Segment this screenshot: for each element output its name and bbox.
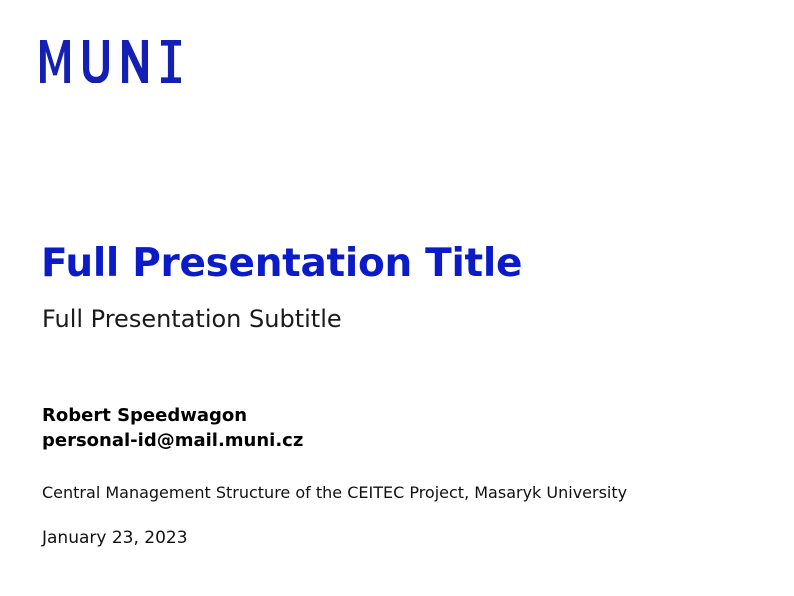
presentation-title-slide: Full Presentation Title Full Presentatio… [0, 0, 794, 596]
author-name: Robert Speedwagon [42, 403, 303, 428]
presentation-title: Full Presentation Title [41, 243, 522, 286]
logo-letter-u [83, 40, 109, 83]
logo-letter-i [161, 40, 181, 83]
author-affiliation: Central Management Structure of the CEIT… [42, 483, 627, 502]
author-email: personal-id@mail.muni.cz [42, 428, 303, 453]
presentation-date: January 23, 2023 [42, 528, 188, 548]
presentation-subtitle: Full Presentation Subtitle [42, 306, 342, 334]
author-block: Robert Speedwagon personal-id@mail.muni.… [42, 403, 303, 453]
logo-letter-n [122, 40, 148, 83]
logo-letter-m [40, 40, 70, 83]
muni-logo [40, 37, 181, 83]
